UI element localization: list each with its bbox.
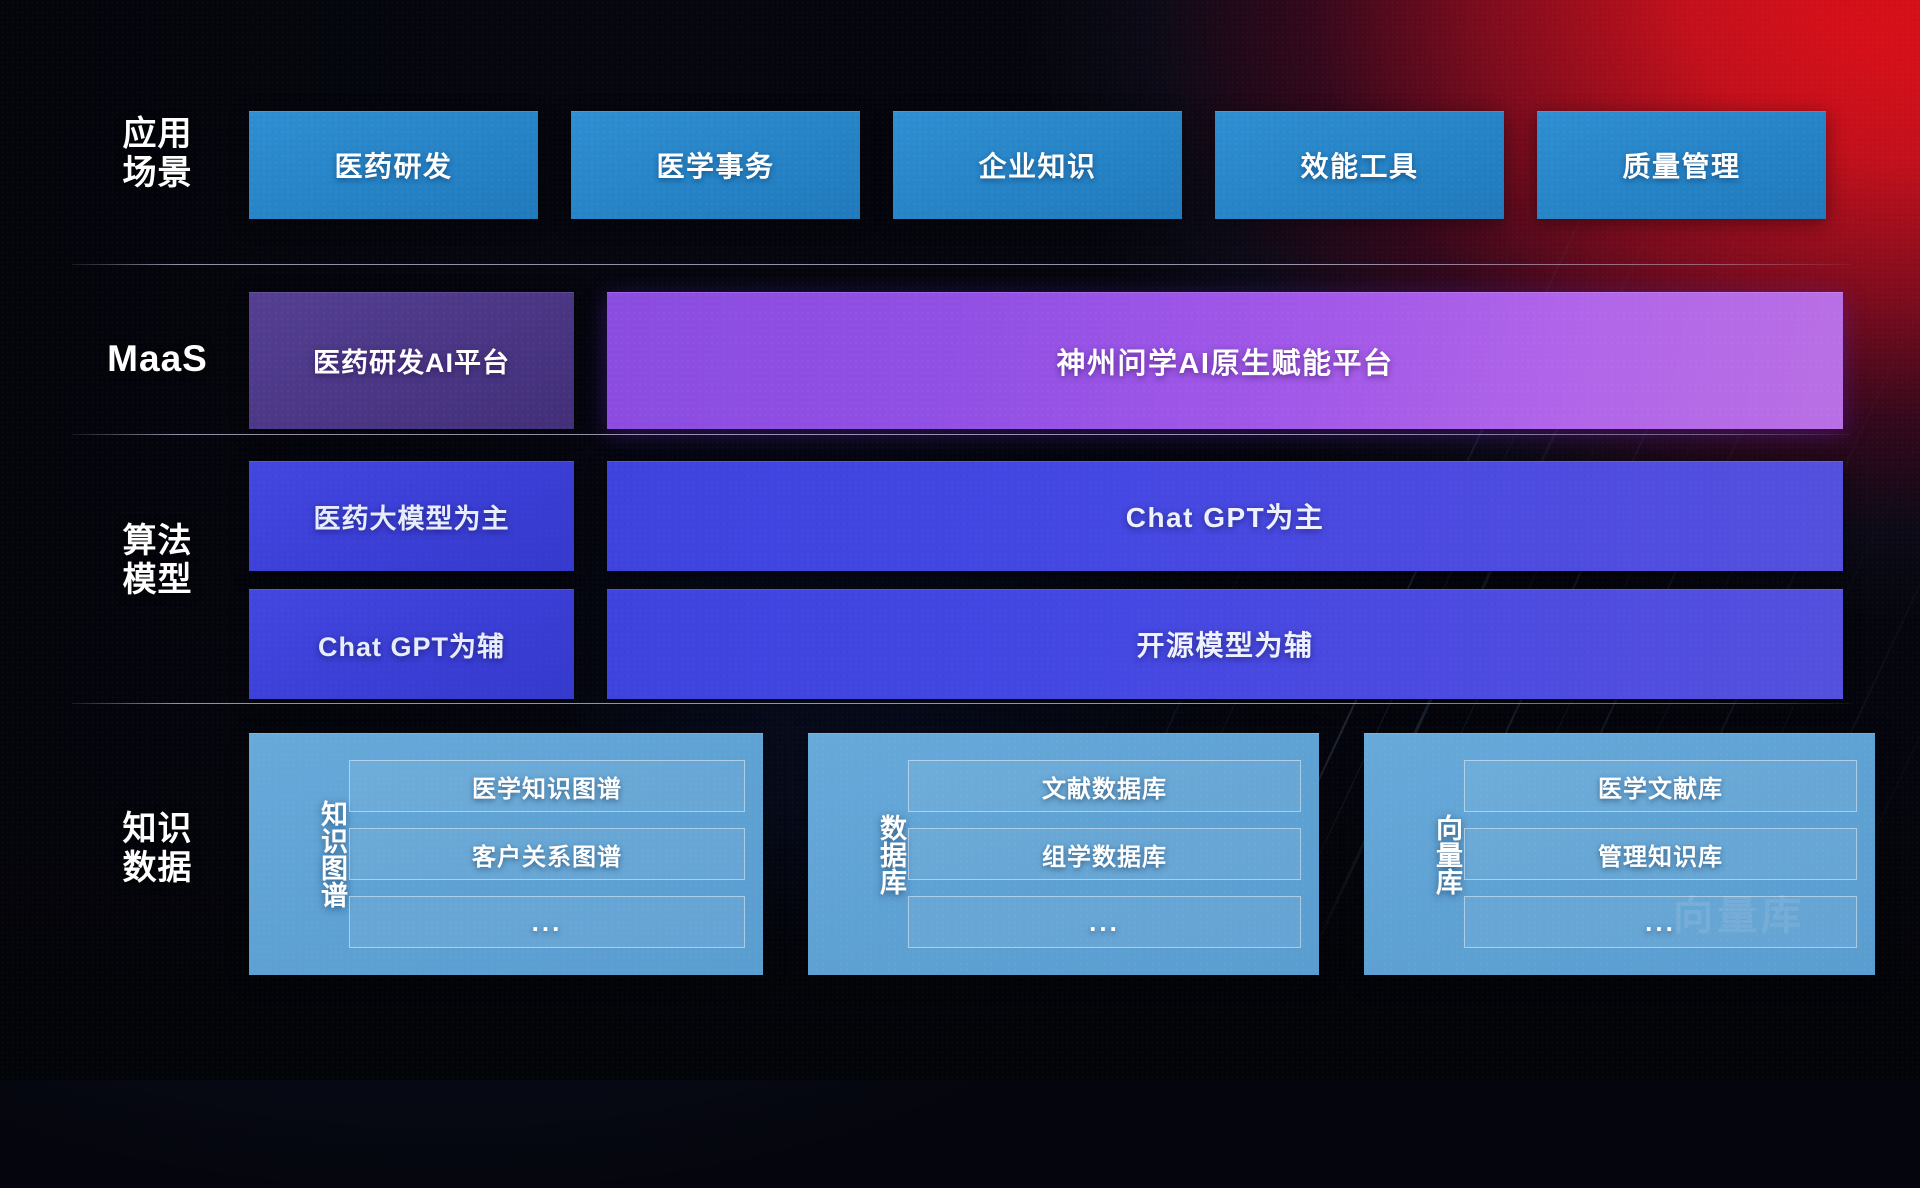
knowledge-item[interactable]: 管理知识库 [1464, 828, 1857, 880]
knowledge-panel-vector-items: 医学文献库 管理知识库 ... [1464, 760, 1861, 948]
row-label-applications-line1: 应用 [75, 115, 240, 154]
architecture-diagram: 应用 场景 医药研发 医学事务 企业知识 效能工具 质量管理 MaaS 医药研发… [0, 0, 1920, 1080]
maas-box-shenzhou-wenxue-platform[interactable]: 神州问学AI原生赋能平台 [607, 292, 1843, 429]
row-label-knowledge: 知识 数据 [75, 810, 240, 889]
app-box-label: 效能工具 [1300, 145, 1418, 185]
divider-applications-maas [72, 264, 1851, 265]
knowledge-item[interactable]: 客户关系图谱 [349, 828, 745, 880]
knowledge-panel-database-items: 文献数据库 组学数据库 ... [908, 760, 1305, 948]
row-label-knowledge-line1: 知识 [75, 810, 240, 849]
maas-box-label: 神州问学AI原生赋能平台 [1056, 340, 1393, 382]
row-label-applications-line2: 场景 [75, 154, 240, 193]
algo-box-label: Chat GPT为辅 [318, 625, 505, 664]
app-box-label: 企业知识 [978, 145, 1096, 185]
algorithm-row: 医药大模型为主 Chat GPT为主 Chat GPT为辅 开源模型为辅 [249, 461, 1843, 717]
knowledge-panel-graph: 知识图谱 医学知识图谱 客户关系图谱 ... [249, 733, 763, 975]
app-box-label: 质量管理 [1622, 145, 1740, 185]
knowledge-item[interactable]: 医学文献库 [1464, 760, 1857, 812]
app-box-label: 医药研发 [334, 145, 452, 185]
app-box-medical-affairs[interactable]: 医学事务 [571, 111, 860, 219]
knowledge-panel-vector-title: 向量库 [1394, 814, 1464, 895]
knowledge-item-more[interactable]: ... [349, 896, 745, 948]
app-box-label: 医学事务 [656, 145, 774, 185]
row-label-maas-text: MaaS [75, 338, 240, 381]
knowledge-item-more[interactable]: ... [908, 896, 1301, 948]
algo-box-chatgpt-primary[interactable]: Chat GPT为主 [607, 461, 1843, 571]
knowledge-panel-database: 数据库 文献数据库 组学数据库 ... [808, 733, 1319, 975]
knowledge-panel-vector: 向量库 医学文献库 管理知识库 ... 向量库 [1364, 733, 1875, 975]
knowledge-row: 知识图谱 医学知识图谱 客户关系图谱 ... 数据库 文献数据库 组学数据库 .… [249, 733, 1875, 975]
knowledge-item[interactable]: 组学数据库 [908, 828, 1301, 880]
algo-box-opensource-secondary[interactable]: 开源模型为辅 [607, 589, 1843, 699]
row-label-knowledge-line2: 数据 [75, 849, 240, 888]
algo-box-medicine-llm-primary[interactable]: 医药大模型为主 [249, 461, 574, 571]
knowledge-item-more[interactable]: ... [1464, 896, 1857, 948]
knowledge-panel-graph-title: 知识图谱 [279, 800, 349, 908]
app-box-enterprise-knowledge[interactable]: 企业知识 [893, 111, 1182, 219]
algo-box-label: 开源模型为辅 [1136, 624, 1313, 664]
knowledge-panel-database-title: 数据库 [838, 814, 908, 895]
app-box-quality-management[interactable]: 质量管理 [1537, 111, 1826, 219]
algorithm-line-secondary: Chat GPT为辅 开源模型为辅 [249, 589, 1843, 699]
row-label-maas: MaaS [75, 338, 240, 381]
maas-box-medicine-ai-platform[interactable]: 医药研发AI平台 [249, 292, 574, 429]
algorithm-line-primary: 医药大模型为主 Chat GPT为主 [249, 461, 1843, 571]
divider-algorithm-knowledge [72, 703, 1851, 704]
divider-maas-algorithm [72, 434, 1851, 435]
knowledge-item[interactable]: 医学知识图谱 [349, 760, 745, 812]
maas-row: 医药研发AI平台 神州问学AI原生赋能平台 [249, 292, 1843, 429]
algo-box-label: 医药大模型为主 [314, 497, 510, 536]
row-label-applications: 应用 场景 [75, 115, 240, 194]
knowledge-item[interactable]: 文献数据库 [908, 760, 1301, 812]
algo-box-label: Chat GPT为主 [1126, 496, 1325, 536]
knowledge-panel-graph-items: 医学知识图谱 客户关系图谱 ... [349, 760, 749, 948]
app-box-medicine-rd[interactable]: 医药研发 [249, 111, 538, 219]
maas-box-label: 医药研发AI平台 [313, 341, 510, 380]
row-label-algorithm-line2: 模型 [75, 561, 240, 600]
applications-row: 医药研发 医学事务 企业知识 效能工具 质量管理 [249, 111, 1826, 219]
row-label-algorithm: 算法 模型 [75, 522, 240, 601]
row-label-algorithm-line1: 算法 [75, 522, 240, 561]
app-box-efficiency-tools[interactable]: 效能工具 [1215, 111, 1504, 219]
algo-box-chatgpt-secondary[interactable]: Chat GPT为辅 [249, 589, 574, 699]
